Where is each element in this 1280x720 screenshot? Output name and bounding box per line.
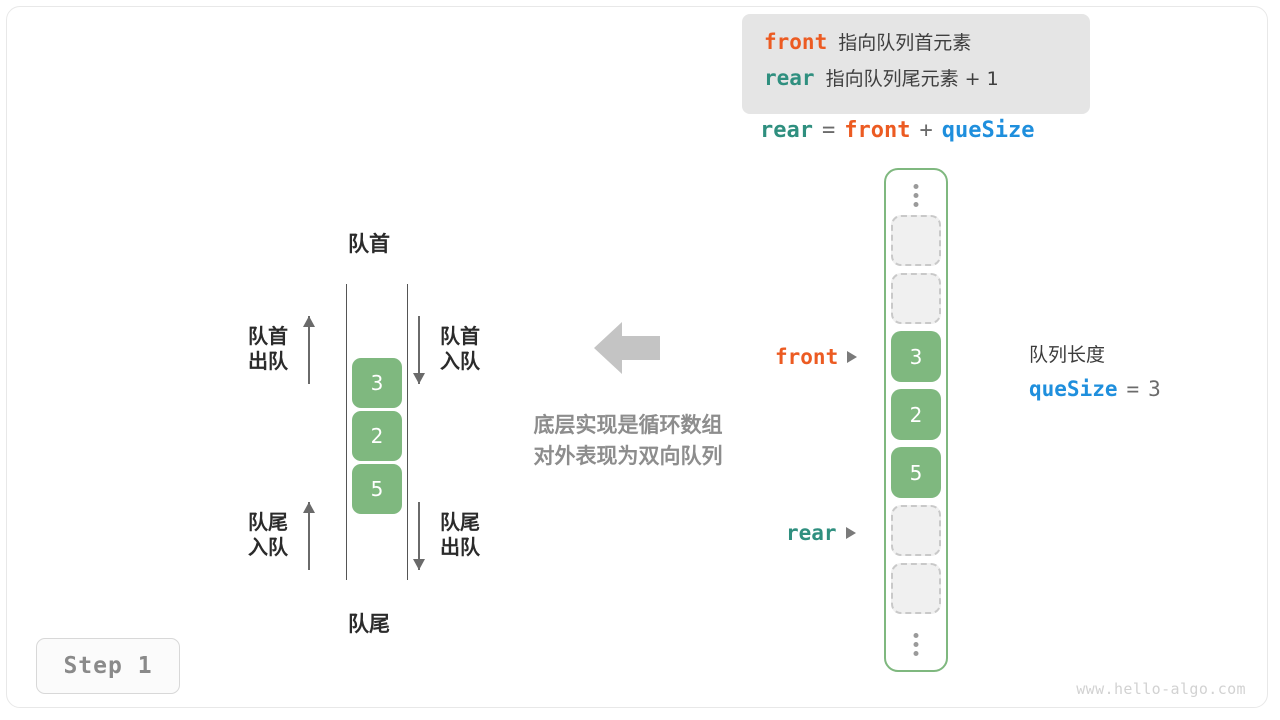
arrow-down-icon [412,316,426,384]
array-slot: 2 [891,389,941,440]
op-tail-dequeue-text: 队尾 出队 [440,511,480,561]
array-slot-list: 3 2 5 [891,215,941,621]
formula-rear-equals-front-plus-quesize: rear = front + queSize [760,118,1043,143]
formula-plus: + [919,118,932,143]
array-slot [891,273,941,324]
formula-operand-quesize: queSize [942,118,1035,143]
step-badge: Step 1 [36,638,180,694]
formula-equals: = [822,118,835,143]
op-tail-enqueue-line2: 入队 [248,536,288,561]
deque-cell: 3 [352,358,402,408]
op-head-enqueue-line2: 入队 [440,350,480,375]
arrow-up-icon [302,316,316,384]
deque-rail-left [346,284,347,580]
array-slot: 3 [891,331,941,382]
legend-keyword-front: front [764,30,827,54]
quesize-name: queSize [1029,377,1118,401]
quesize-title: 队列长度 [1029,340,1170,367]
op-head-dequeue-line2: 出队 [248,350,288,375]
deque-cell: 2 [352,411,402,461]
diagram-canvas: front 指向队列首元素 rear 指向队列尾元素 + 1 rear = fr… [0,0,1280,720]
legend-box: front 指向队列首元素 rear 指向队列尾元素 + 1 [742,14,1090,114]
pointer-label-rear: rear [786,521,856,545]
deque-cell-stack: 3 2 5 [352,358,402,517]
op-head-dequeue: 队首 出队 [248,316,316,384]
arrow-down-icon [412,502,426,570]
op-tail-enqueue-line1: 队尾 [248,511,288,536]
op-head-dequeue-text: 队首 出队 [248,325,288,375]
quesize-info: 队列长度 queSize = 3 [1029,340,1170,401]
legend-desc-front: 指向队列首元素 [838,28,971,55]
center-note-line2: 对外表现为双向队列 [500,441,756,472]
array-slot [891,505,941,556]
pointer-front-text: front [775,345,838,369]
pointer-arrow-icon [847,351,857,363]
circular-array-container: 3 2 5 [884,168,948,672]
op-tail-dequeue-line2: 出队 [440,536,480,561]
op-head-dequeue-line1: 队首 [248,325,288,350]
deque-cell: 5 [352,464,402,514]
watermark: www.hello-algo.com [1076,680,1246,698]
op-tail-dequeue-line1: 队尾 [440,511,480,536]
pointer-label-front: front [775,345,857,369]
array-slot [891,215,941,266]
quesize-value: 3 [1148,377,1161,401]
deque-head-label: 队首 [348,228,390,258]
array-slot: 5 [891,447,941,498]
quesize-expression: queSize = 3 [1029,377,1170,401]
deque-rail-right [407,284,408,580]
legend-keyword-rear: rear [764,66,815,90]
legend-desc-rear: 指向队列尾元素 + 1 [826,64,999,91]
center-note: 底层实现是循环数组 对外表现为双向队列 [500,410,756,472]
op-head-enqueue-text: 队首 入队 [440,325,480,375]
pointer-rear-text: rear [786,521,837,545]
op-head-enqueue: 队首 入队 [412,316,480,384]
center-note-line1: 底层实现是循环数组 [500,410,756,441]
arrow-up-icon [302,502,316,570]
op-head-enqueue-line1: 队首 [440,325,480,350]
legend-row-front: front 指向队列首元素 [764,28,1090,64]
ellipsis-bottom-icon [914,631,919,658]
op-tail-enqueue: 队尾 入队 [248,502,316,570]
formula-lhs: rear [760,118,813,143]
op-tail-dequeue: 队尾 出队 [412,502,480,570]
left-arrow-icon [594,322,660,374]
op-tail-enqueue-text: 队尾 入队 [248,511,288,561]
array-slot [891,563,941,614]
quesize-equals: = [1127,377,1140,401]
pointer-arrow-icon [846,527,856,539]
deque-diagram: 队首 队尾 3 2 5 队首 出队 队尾 入队 [240,220,540,640]
legend-row-rear: rear 指向队列尾元素 + 1 [764,64,1090,100]
ellipsis-top-icon [914,182,919,209]
deque-tail-label: 队尾 [348,608,390,638]
formula-operand-front: front [844,118,910,143]
